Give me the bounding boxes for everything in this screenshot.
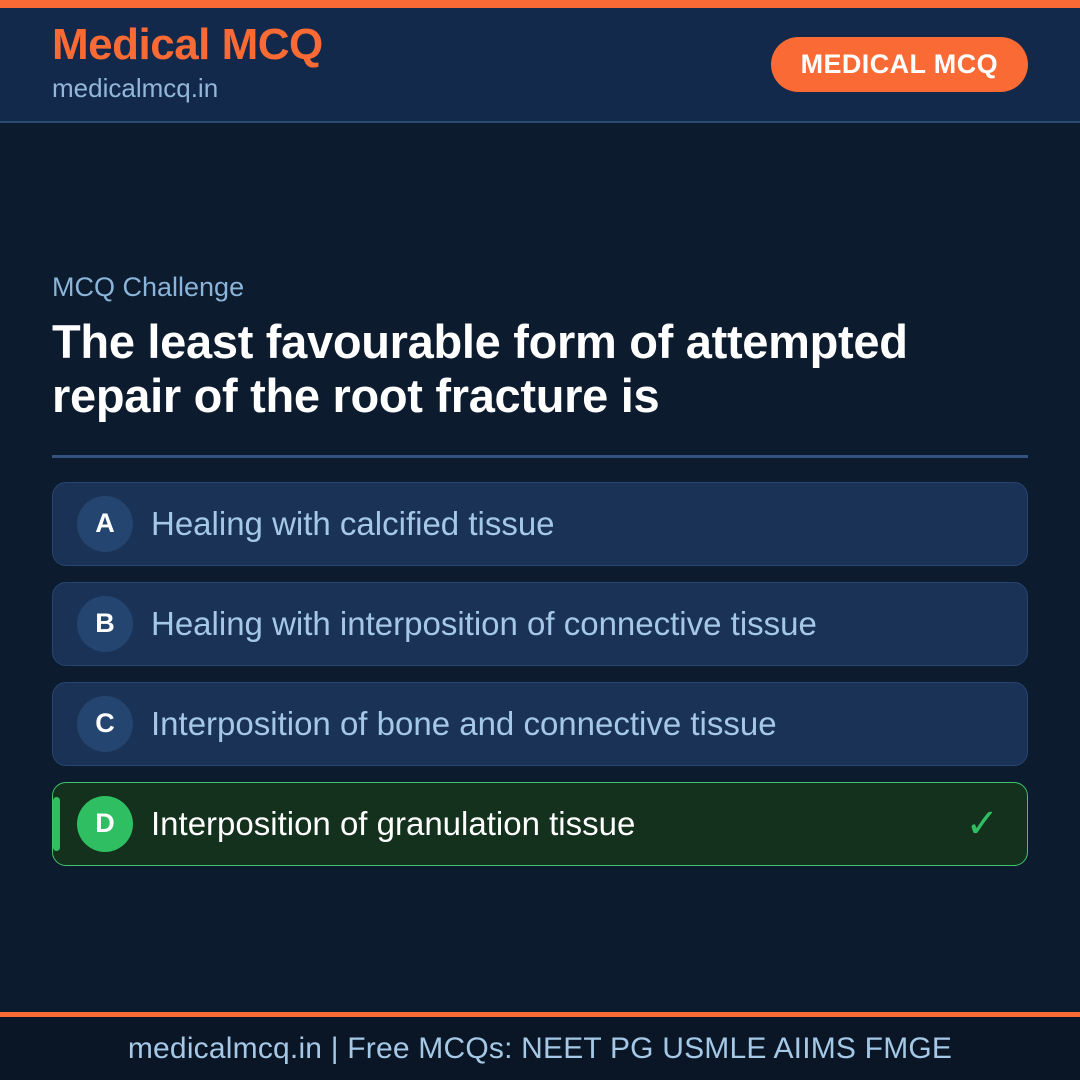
question-text: The least favourable form of attempted r…: [52, 315, 932, 422]
options-list: A Healing with calcified tissue B Healin…: [52, 482, 1028, 866]
option-letter-badge: B: [77, 596, 133, 652]
question-block: MCQ Challenge The least favourable form …: [52, 271, 1028, 423]
option-text: Healing with calcified tissue: [151, 504, 987, 544]
main-content: MCQ Challenge The least favourable form …: [0, 123, 1080, 1012]
option-letter-badge: C: [77, 696, 133, 752]
option-a[interactable]: A Healing with calcified tissue: [52, 482, 1028, 566]
top-accent-bar: [0, 0, 1080, 8]
section-divider: [52, 455, 1028, 458]
footer-text: medicalmcq.in | Free MCQs: NEET PG USMLE…: [128, 1032, 952, 1066]
question-kicker: MCQ Challenge: [52, 271, 1028, 303]
option-letter-badge: A: [77, 496, 133, 552]
option-text: Interposition of granulation tissue: [151, 804, 953, 844]
option-c[interactable]: C Interposition of bone and connective t…: [52, 682, 1028, 766]
correct-accent-bar: [53, 797, 60, 851]
header: Medical MCQ medicalmcq.in MEDICAL MCQ: [0, 8, 1080, 123]
footer: medicalmcq.in | Free MCQs: NEET PG USMLE…: [0, 1012, 1080, 1080]
option-text: Interposition of bone and connective tis…: [151, 704, 987, 744]
brand-subtitle: medicalmcq.in: [52, 72, 323, 106]
option-letter-badge: D: [77, 796, 133, 852]
option-d[interactable]: D Interposition of granulation tissue ✓: [52, 782, 1028, 866]
mcq-card: Medical MCQ medicalmcq.in MEDICAL MCQ MC…: [0, 0, 1080, 1080]
brand: Medical MCQ medicalmcq.in: [52, 23, 323, 106]
option-text: Healing with interposition of connective…: [151, 604, 987, 644]
brand-title: Medical MCQ: [52, 23, 323, 68]
check-icon: ✓: [965, 804, 999, 844]
option-b[interactable]: B Healing with interposition of connecti…: [52, 582, 1028, 666]
header-badge: MEDICAL MCQ: [771, 37, 1028, 92]
